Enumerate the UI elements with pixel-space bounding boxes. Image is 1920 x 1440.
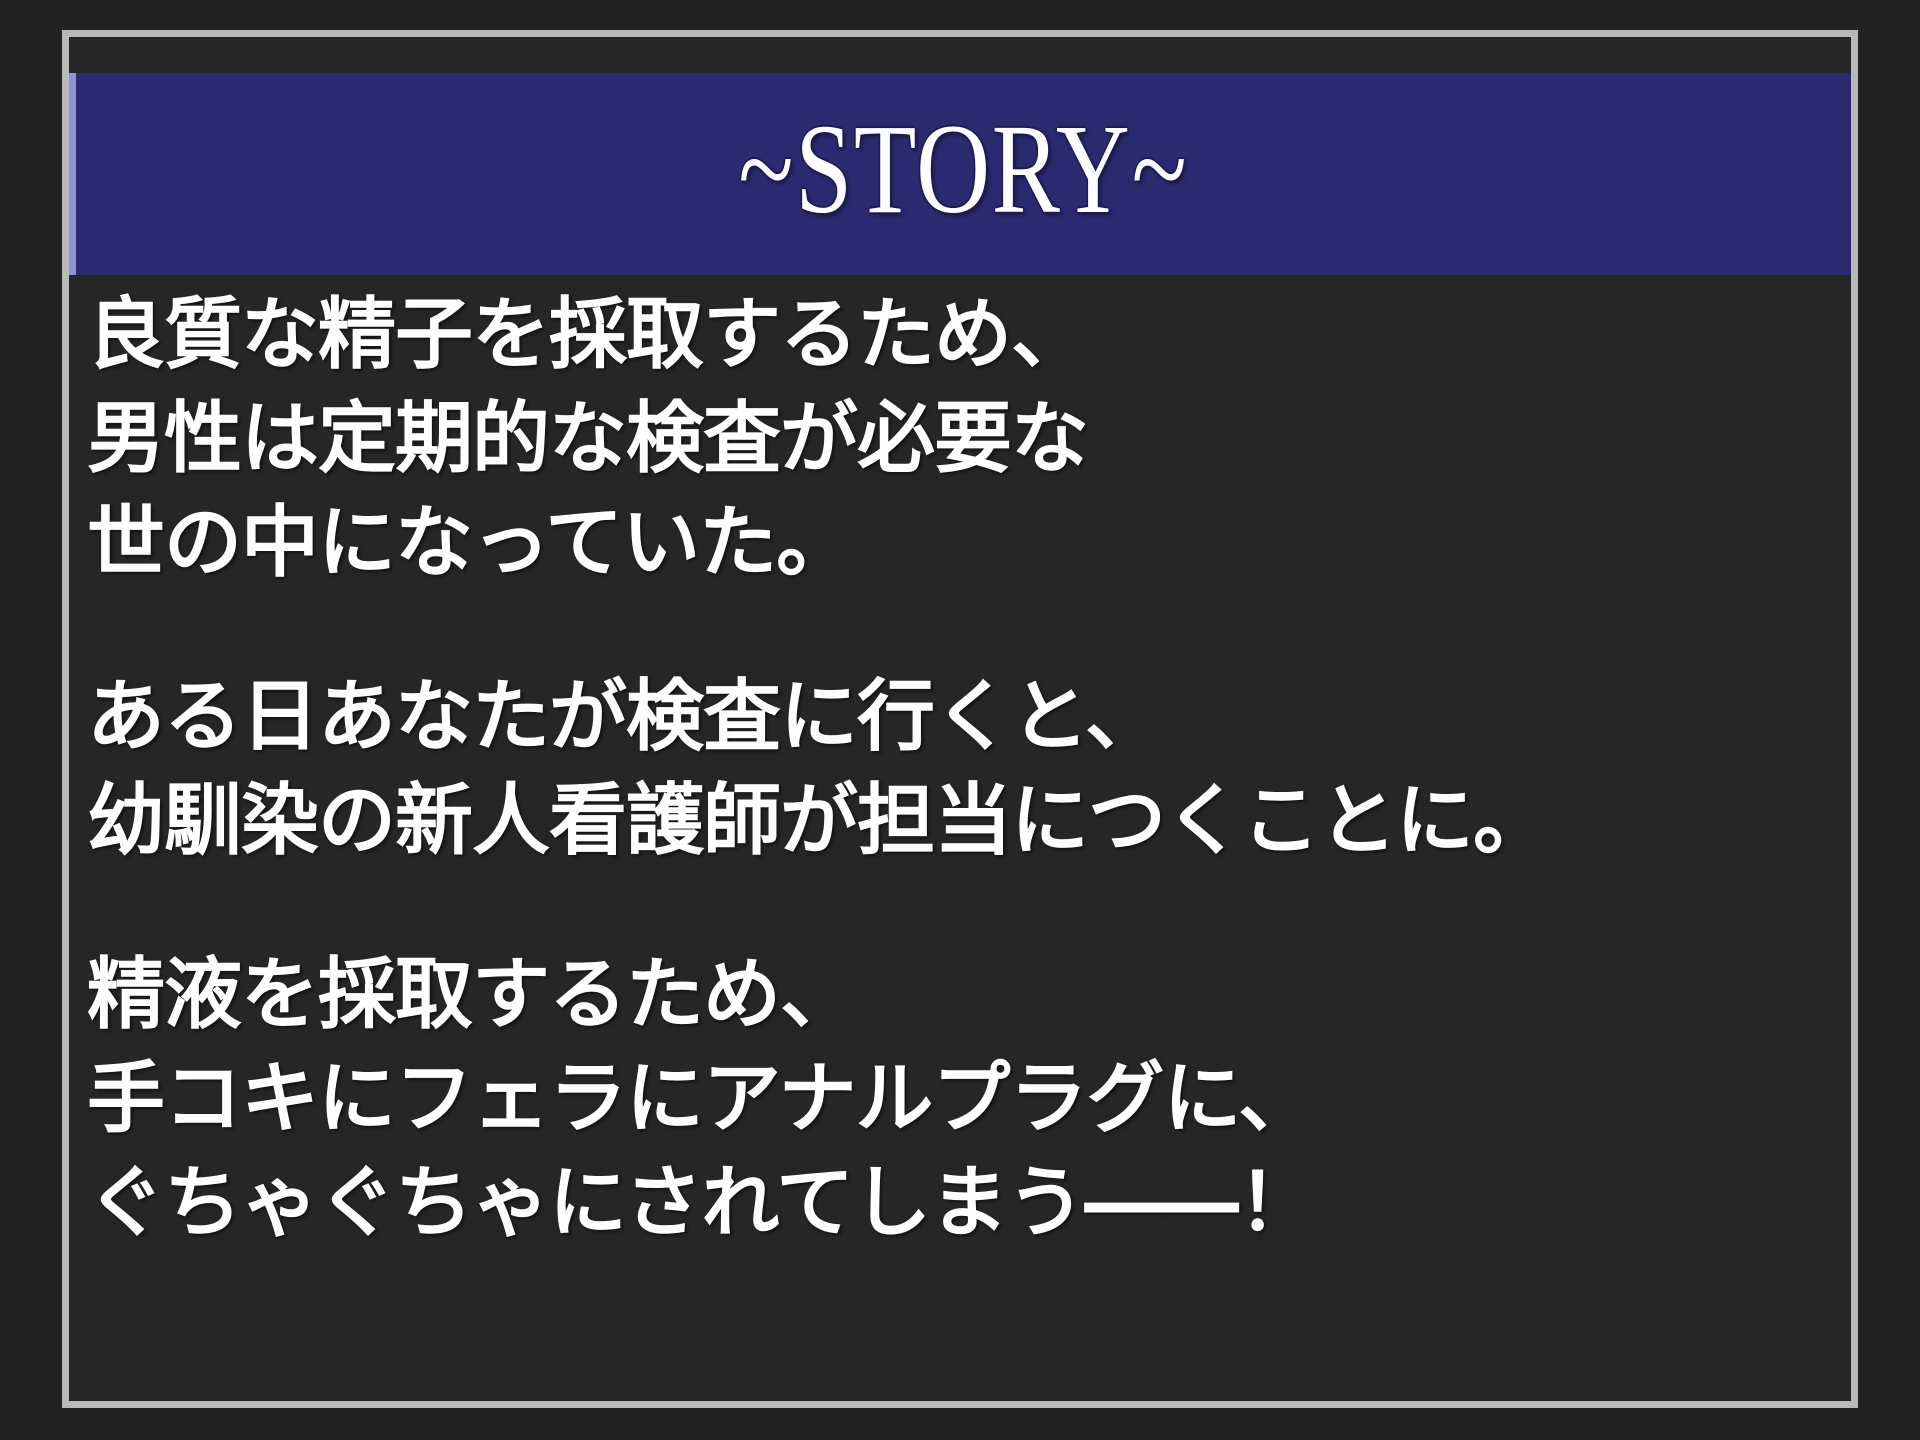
- story-card-frame: ~STORY~ 良質な精子を採取するため、男性は定期的な検査が必要な世の中になっ…: [62, 30, 1858, 1408]
- story-line: 良質な精子を採取するため、: [87, 283, 1841, 387]
- story-line: 幼馴染の新人看護師が担当につくことに。: [87, 769, 1841, 873]
- story-card-inner: ~STORY~ 良質な精子を採取するため、男性は定期的な検査が必要な世の中になっ…: [69, 37, 1851, 1401]
- story-line: 世の中になっていた。: [87, 491, 1841, 595]
- story-title-banner: ~STORY~: [69, 73, 1851, 275]
- story-line: 精液を採取するため、: [87, 943, 1841, 1047]
- story-text-block: 良質な精子を採取するため、男性は定期的な検査が必要な世の中になっていた。ある日あ…: [87, 283, 1841, 1401]
- story-line: ぐちゃぐちゃにされてしまう――！: [87, 1151, 1841, 1255]
- story-line-spacer: [87, 873, 1841, 943]
- story-line-spacer: [87, 595, 1841, 665]
- story-screen: ~STORY~ 良質な精子を採取するため、男性は定期的な検査が必要な世の中になっ…: [0, 0, 1920, 1440]
- story-line: 手コキにフェラにアナルプラグに、: [87, 1047, 1841, 1151]
- story-line: ある日あなたが検査に行くと、: [87, 665, 1841, 769]
- page-title: ~STORY~: [738, 105, 1188, 243]
- story-line: 男性は定期的な検査が必要な: [87, 387, 1841, 491]
